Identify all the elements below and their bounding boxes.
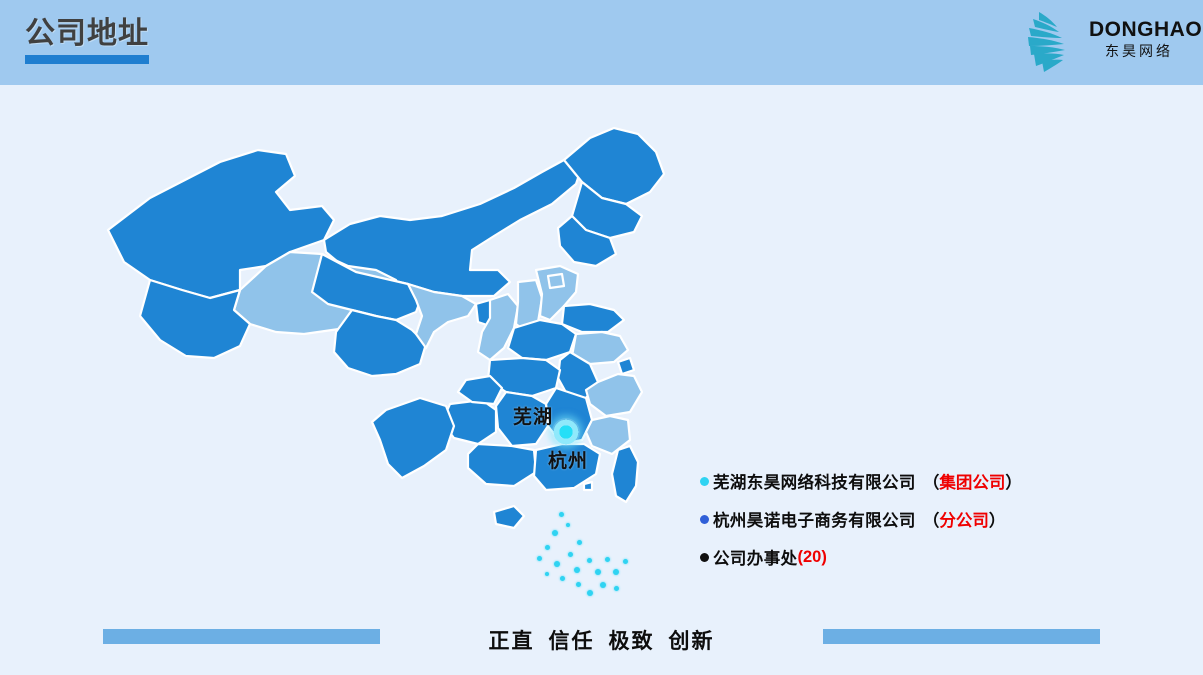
region-hongkong — [584, 482, 592, 490]
office-dot — [576, 582, 581, 587]
legend-bullet-icon — [700, 477, 709, 486]
legend-item-group-company[interactable]: 芜湖东昊网络科技有限公司 （ 集团公司 ） — [700, 462, 1120, 500]
legend-tag: 集团公司 — [939, 469, 1005, 493]
province-hainan — [494, 506, 524, 528]
office-dot — [587, 558, 592, 563]
office-dot — [577, 540, 582, 545]
office-dot — [595, 569, 601, 575]
province-taiwan — [612, 446, 638, 502]
office-dot — [545, 572, 549, 576]
province-shandong — [562, 304, 624, 332]
office-dot — [574, 567, 580, 573]
office-dot — [559, 512, 564, 517]
legend-bullet-icon — [700, 553, 709, 562]
province-shanghai — [618, 358, 634, 374]
office-dot — [560, 576, 565, 581]
legend-item-offices[interactable]: 公司办事处 ( 20 ) — [700, 538, 1120, 576]
office-dot — [552, 530, 558, 536]
legend-bullet-icon — [700, 515, 709, 524]
slide-company-address: 公司地址 DONGHAO 东 — [0, 0, 1203, 675]
office-dot — [587, 590, 593, 596]
legend-open-paren: （ — [923, 507, 940, 531]
logo-name-cn: 东昊网络 — [1089, 42, 1189, 60]
donghao-wing-logo-icon — [1019, 8, 1091, 74]
province-guangxi — [468, 444, 536, 486]
legend-tag: 分公司 — [939, 507, 989, 531]
office-dot — [537, 556, 542, 561]
page-title: 公司地址 — [25, 17, 149, 51]
title-underline — [25, 55, 149, 64]
legend-close-paren: ） — [1005, 469, 1022, 493]
province-beijing — [548, 274, 564, 288]
province-yunnan — [372, 398, 454, 478]
legend-tag: 20 — [803, 548, 821, 567]
office-dot — [566, 523, 570, 527]
office-dot — [614, 586, 619, 591]
office-dot — [613, 569, 619, 575]
office-dot — [623, 559, 628, 564]
office-dot — [605, 557, 610, 562]
office-dot — [554, 561, 560, 567]
office-dot — [600, 582, 606, 588]
city-label-wuhu: 芜湖 — [513, 402, 553, 429]
legend-close-paren: ） — [989, 507, 1006, 531]
footer-slogan: 正直信任极致创新 — [0, 625, 1203, 655]
province-sichuan — [334, 310, 426, 376]
page-title-wrap: 公司地址 — [25, 17, 149, 64]
china-map-svg — [90, 120, 710, 610]
province-chongqing — [458, 376, 502, 404]
legend-close-paren: ) — [821, 548, 827, 567]
city-label-hangzhou: 杭州 — [548, 446, 588, 473]
legend-open-paren: （ — [923, 469, 940, 493]
slogan-word: 正直 — [489, 630, 535, 653]
legend-label: 公司办事处 — [713, 545, 798, 569]
brand-logo[interactable]: DONGHAO 东昊网络 — [1011, 6, 1191, 76]
office-dot — [545, 545, 550, 550]
logo-name-en: DONGHAO — [1089, 18, 1189, 41]
logo-text: DONGHAO 东昊网络 — [1089, 18, 1189, 60]
slogan-word: 极致 — [609, 630, 655, 653]
headquarters-marker[interactable] — [552, 418, 580, 446]
slogan-word: 信任 — [549, 630, 595, 653]
legend-item-branch-company[interactable]: 杭州昊诺电子商务有限公司 （ 分公司 ） — [700, 500, 1120, 538]
slogan-word: 创新 — [669, 630, 715, 653]
header-band: 公司地址 DONGHAO 东 — [0, 0, 1203, 85]
legend-label: 芜湖东昊网络科技有限公司 — [713, 469, 916, 493]
office-dot — [568, 552, 573, 557]
legend-label: 杭州昊诺电子商务有限公司 — [713, 507, 916, 531]
legend: 芜湖东昊网络科技有限公司 （ 集团公司 ） 杭州昊诺电子商务有限公司 （ 分公司… — [700, 462, 1120, 576]
china-map[interactable] — [90, 120, 710, 610]
